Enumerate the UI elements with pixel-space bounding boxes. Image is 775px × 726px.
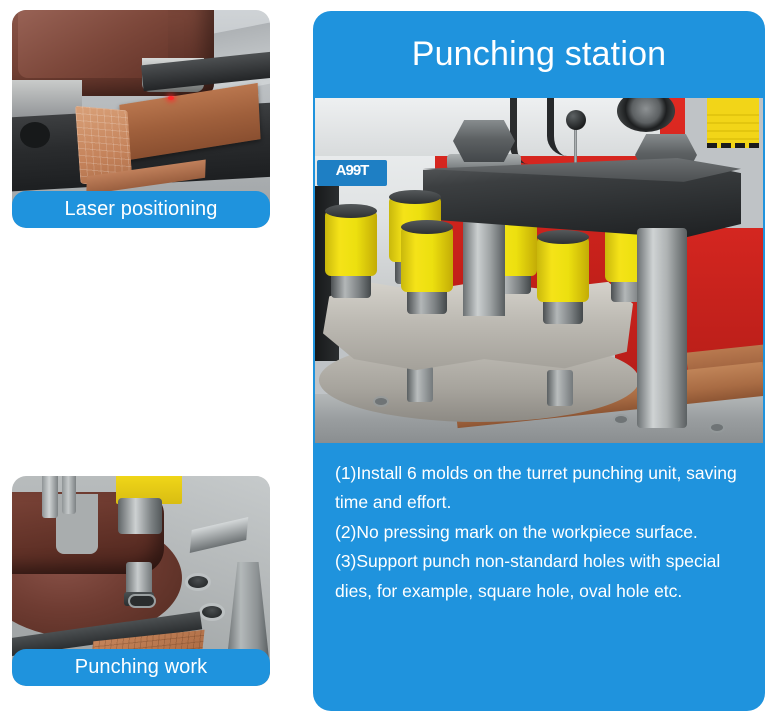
- spring-cylinder-1: [325, 210, 377, 276]
- feature-item-2: (2)No pressing mark on the workpiece sur…: [335, 518, 745, 547]
- card-punching-work[interactable]: Punching work: [12, 476, 270, 686]
- card-laser-positioning[interactable]: Laser positioning: [12, 10, 270, 228]
- page-root: Laser positioning: [0, 0, 775, 726]
- feature-item-1: (1)Install 6 molds on the turret punchin…: [335, 459, 745, 518]
- photo-punching-station: A99T: [315, 98, 763, 443]
- feature-item-3: (3)Support punch non-standard holes with…: [335, 547, 745, 606]
- punching-station-panel: Punching station A99T: [313, 11, 765, 711]
- machine-badge: A99T: [319, 162, 385, 184]
- laser-dot: [168, 96, 174, 100]
- adjust-knob: [566, 110, 586, 130]
- hex-nut-left: [453, 120, 515, 162]
- card-label-laser-positioning: Laser positioning: [12, 191, 270, 228]
- spring-cylinder-3: [401, 226, 453, 292]
- page-title: Punching station: [313, 11, 765, 98]
- feature-list: (1)Install 6 molds on the turret punchin…: [313, 443, 765, 606]
- card-label-punching-work: Punching work: [12, 649, 270, 686]
- left-image-column: Laser positioning: [12, 10, 270, 716]
- spring-cylinder-4: [537, 236, 589, 302]
